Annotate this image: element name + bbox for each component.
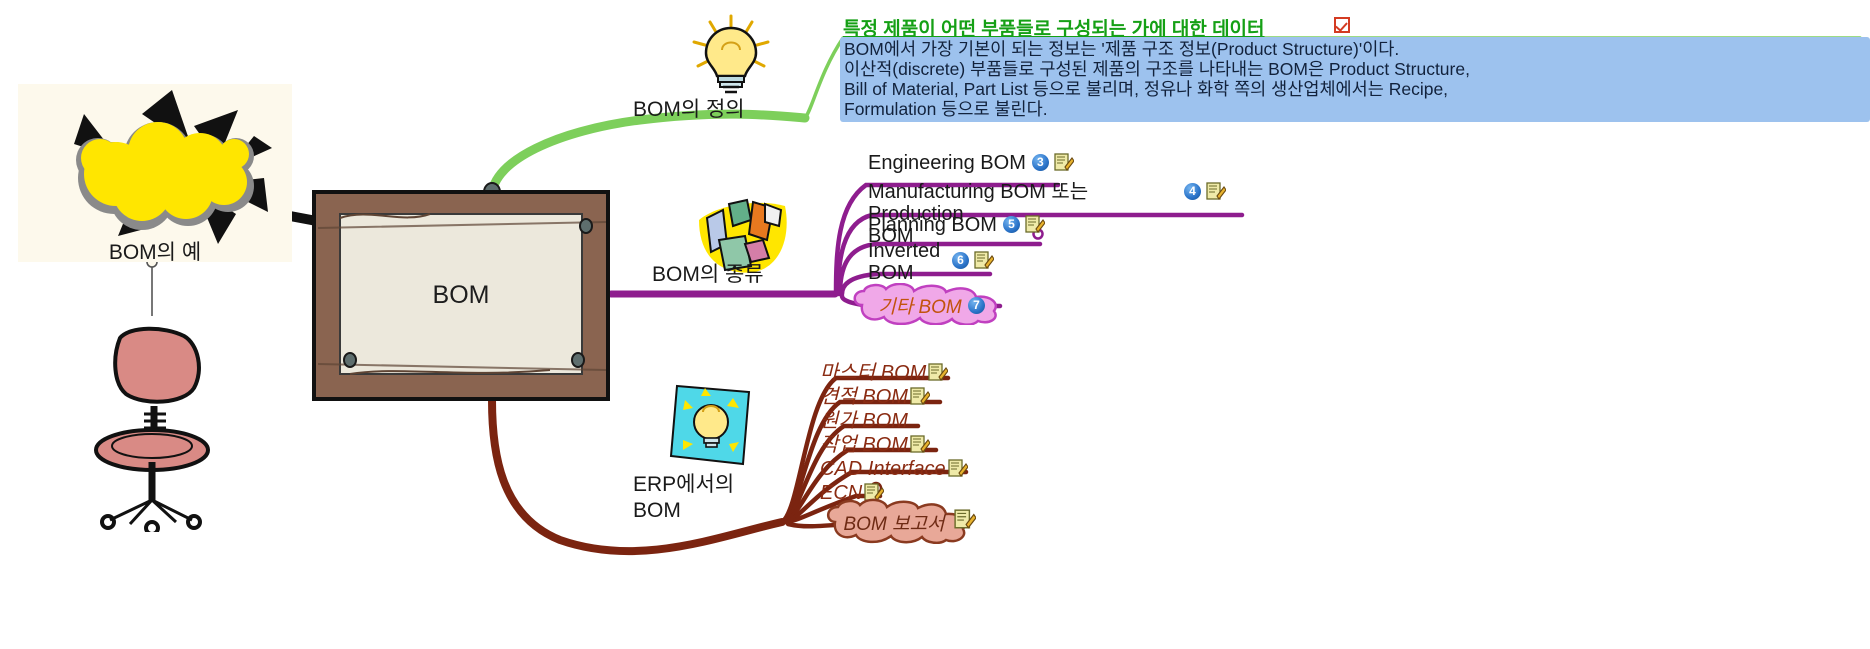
erp-item-master-bom[interactable]: 마스터 BOM [820, 362, 948, 384]
example-node-label: BOM의 예 [18, 236, 292, 266]
kind-item-badge: 3 [1032, 154, 1049, 171]
note-icon[interactable] [1054, 153, 1074, 172]
erp-cloud-label: BOM 보고서 [832, 509, 956, 536]
kind-cloud-label: 기타 BOM [860, 292, 980, 319]
note-icon[interactable] [948, 459, 968, 478]
note-icon[interactable] [954, 509, 976, 530]
mindmap-canvas: BOM의 예 BOM BOM의 정의 특정 제 [0, 0, 1870, 649]
note-icon[interactable] [1025, 215, 1045, 234]
kind-item-label: Inverted BOM [868, 240, 946, 284]
kind-item-label: Planning BOM [868, 214, 997, 236]
branch-label-kinds[interactable]: BOM의 종류 [652, 262, 764, 288]
kind-cloud-badge: 7 [968, 297, 985, 314]
explosion-cloud-icon [22, 86, 288, 246]
central-node-label: BOM [310, 188, 612, 403]
kind-item-inverted-bom[interactable]: Inverted BOM 6 [868, 240, 994, 284]
note-icon[interactable] [910, 435, 930, 454]
erp-item-label: 마스터 BOM [820, 362, 926, 384]
note-icon[interactable] [1206, 182, 1226, 201]
erp-item-quotation-bom[interactable]: 견적 BOM [820, 386, 930, 408]
branch-label-erp[interactable]: ERP에서의 BOM [633, 472, 734, 524]
erp-item-cost-bom[interactable]: 원가 BOM [820, 410, 908, 432]
note-icon[interactable] [928, 363, 948, 382]
office-chair-icon [80, 322, 230, 532]
erp-item-label: 견적 BOM [820, 386, 908, 408]
kind-item-label: Engineering BOM [868, 152, 1026, 174]
definition-note-body: BOM에서 가장 기본이 되는 정보는 '제품 구조 정보(Product St… [840, 37, 1870, 122]
kind-item-planning-bom[interactable]: Planning BOM 5 [868, 214, 1045, 236]
kind-item-engineering-bom[interactable]: Engineering BOM 3 [868, 152, 1074, 174]
note-icon[interactable] [974, 251, 994, 270]
kind-item-badge: 4 [1184, 183, 1201, 200]
lightbulb-icon [688, 14, 774, 98]
branch-label-definition[interactable]: BOM의 정의 [633, 97, 745, 123]
erp-bulb-icon [667, 382, 753, 468]
kind-item-badge: 6 [952, 252, 969, 269]
erp-item-label: 작업 BOM [820, 434, 908, 456]
erp-item-work-bom[interactable]: 작업 BOM [820, 434, 930, 456]
erp-item-label: 원가 BOM [820, 410, 908, 432]
erp-item-label: CAD Interface [820, 458, 946, 480]
erp-item-cad-interface[interactable]: CAD Interface [820, 458, 968, 480]
kind-item-badge: 5 [1003, 216, 1020, 233]
note-icon[interactable] [910, 387, 930, 406]
checked-checkbox-icon[interactable] [1334, 17, 1350, 33]
